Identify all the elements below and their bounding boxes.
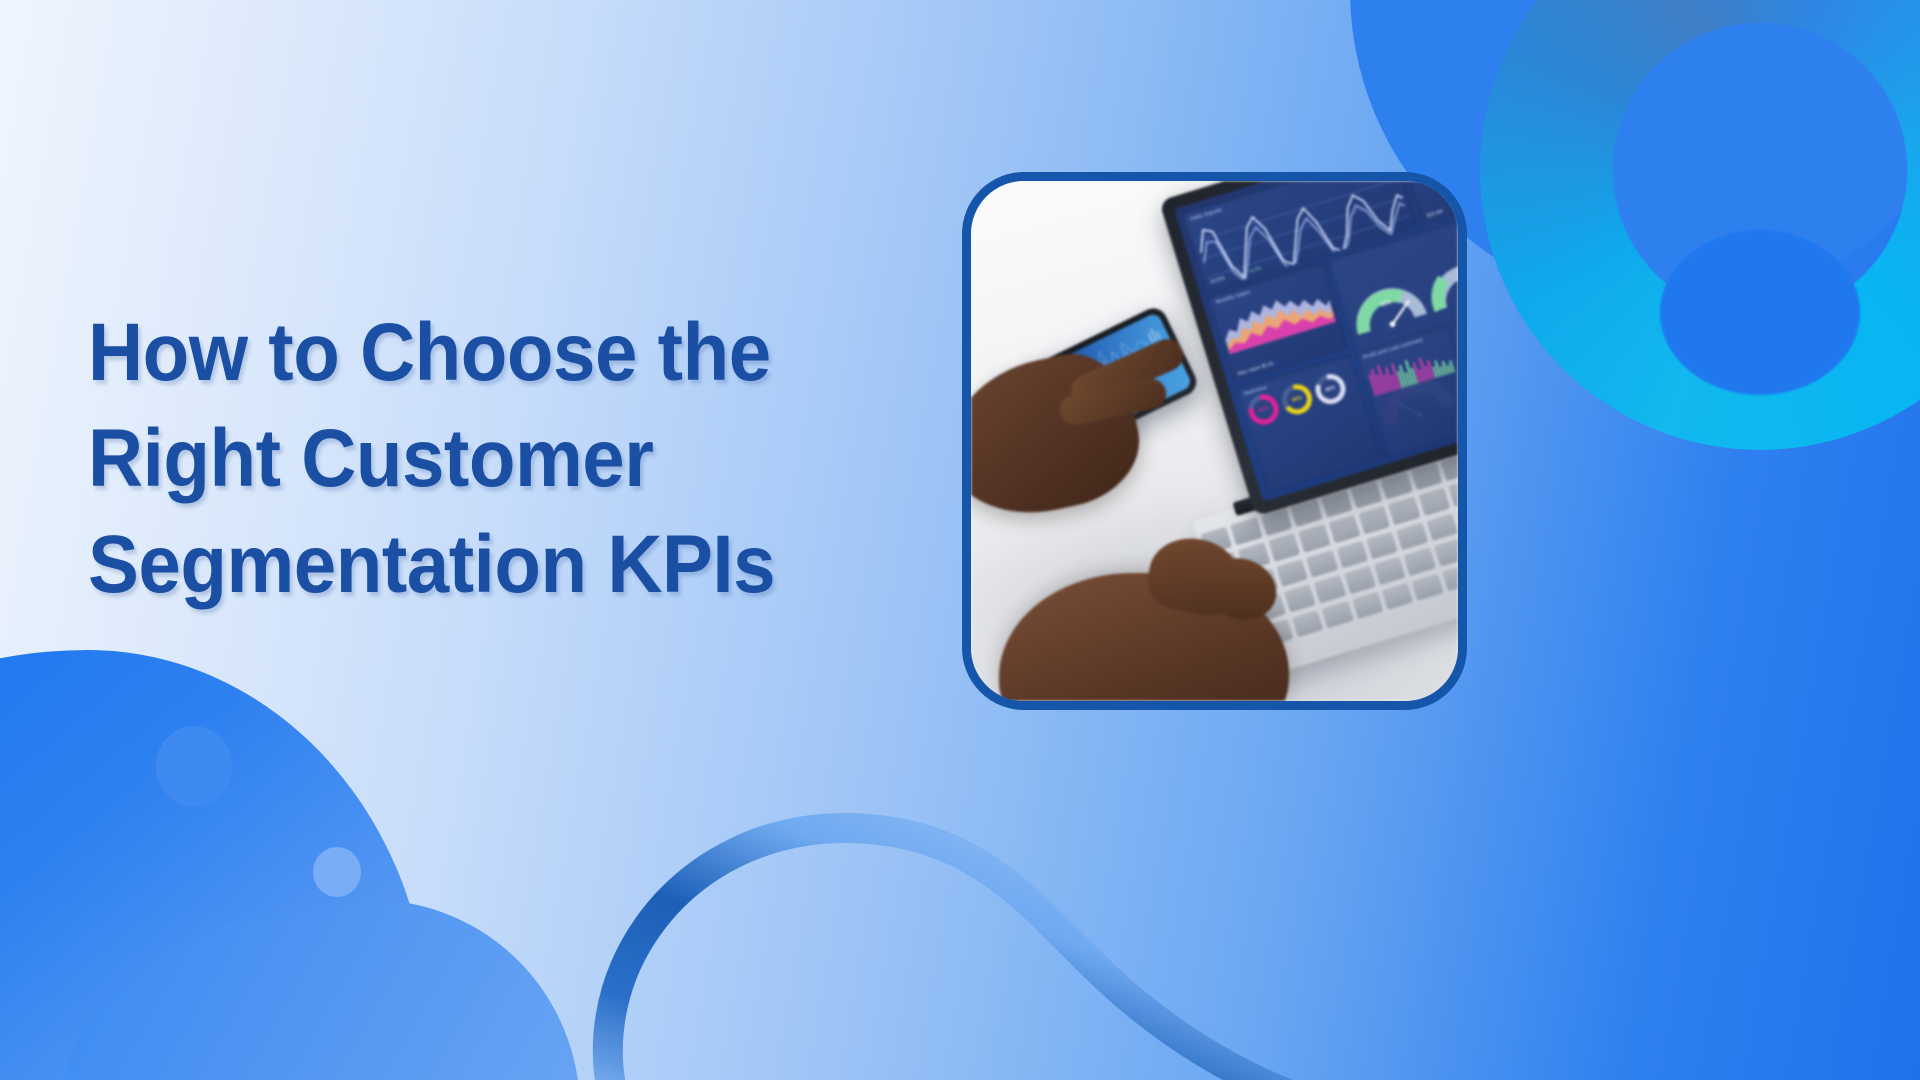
retention-donut-3: 85%: [1312, 370, 1349, 407]
page-title-line-2: Right Customer: [88, 406, 860, 512]
monthly-sales-value: Max Value $3.2k: [1237, 361, 1274, 378]
analytics-dashboard: Daily Signals: [1174, 181, 1458, 502]
page-title-line-3: Segmentation KPIs: [88, 512, 860, 618]
hero-photo-frame: Daily Signals: [962, 172, 1467, 710]
decorative-circle-small-a: [156, 726, 232, 806]
decorative-circle-small-b: [313, 847, 361, 897]
laptop-screen: Daily Signals: [1174, 181, 1458, 502]
laptop-lid: Daily Signals: [1159, 181, 1458, 517]
decorative-swoosh-ribbon: [560, 650, 1340, 1080]
page-title-line-1: How to Choose the: [88, 300, 860, 406]
decorative-blob-bottom-left-two: [60, 900, 580, 1080]
decorative-blob-bottom-left: [0, 650, 430, 1080]
retention-donut-1: 81%: [1245, 391, 1282, 428]
retention-donut-1-value: 81%: [1251, 397, 1276, 422]
retention-donut-3-value: 85%: [1318, 376, 1343, 401]
retention-donut-2: 69%: [1278, 380, 1315, 417]
marketing-banner: How to Choose the Right Customer Segment…: [0, 0, 1920, 1080]
retention-donut-2-value: 69%: [1284, 387, 1309, 412]
page-title: How to Choose the Right Customer Segment…: [88, 300, 860, 618]
decorative-ring-top-right: [1480, 0, 1920, 450]
liquidity-value: $25.6M: [1426, 208, 1444, 219]
decorative-ring-inner-fill: [1660, 230, 1860, 395]
hero-photo: Daily Signals: [971, 181, 1458, 701]
